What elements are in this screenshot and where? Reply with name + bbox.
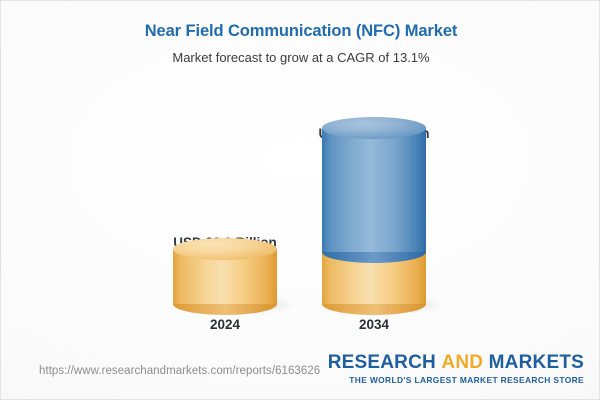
category-label-2034: 2034 — [298, 317, 450, 332]
bar-cylinder-2024[interactable] — [173, 249, 277, 304]
logo-word-markets: MARKETS — [489, 352, 584, 373]
footer: https://www.researchandmarkets.com/repor… — [1, 341, 600, 399]
cylinder-top-cap — [173, 238, 277, 260]
logo-word-and: AND — [441, 352, 483, 373]
logo-wordmark: RESEARCH AND MARKETS — [328, 353, 584, 373]
chart-plot-area: USD 29.9 Billion 2024 USD 101.8 Billion — [1, 89, 600, 341]
bar-cylinder-2034[interactable] — [322, 128, 426, 304]
chart-subtitle: Market forecast to grow at a CAGR of 13.… — [1, 41, 600, 65]
cylinder-body — [322, 128, 426, 252]
logo-tagline: THE WORLD'S LARGEST MARKET RESEARCH STOR… — [328, 375, 584, 385]
bar-segment-base-2024 — [173, 249, 277, 304]
cylinder-top-cap — [322, 117, 426, 139]
chart-header: Near Field Communication (NFC) Market Ma… — [1, 1, 600, 65]
logo-word-research: RESEARCH — [328, 352, 436, 373]
infographic-card: Near Field Communication (NFC) Market Ma… — [0, 0, 600, 400]
page-title: Near Field Communication (NFC) Market — [1, 1, 600, 41]
research-and-markets-logo[interactable]: RESEARCH AND MARKETS THE WORLD'S LARGEST… — [328, 353, 584, 385]
source-url-link[interactable]: https://www.researchandmarkets.com/repor… — [39, 365, 320, 377]
bar-segment-growth-2034 — [322, 128, 426, 252]
category-label-2024: 2024 — [149, 317, 301, 332]
